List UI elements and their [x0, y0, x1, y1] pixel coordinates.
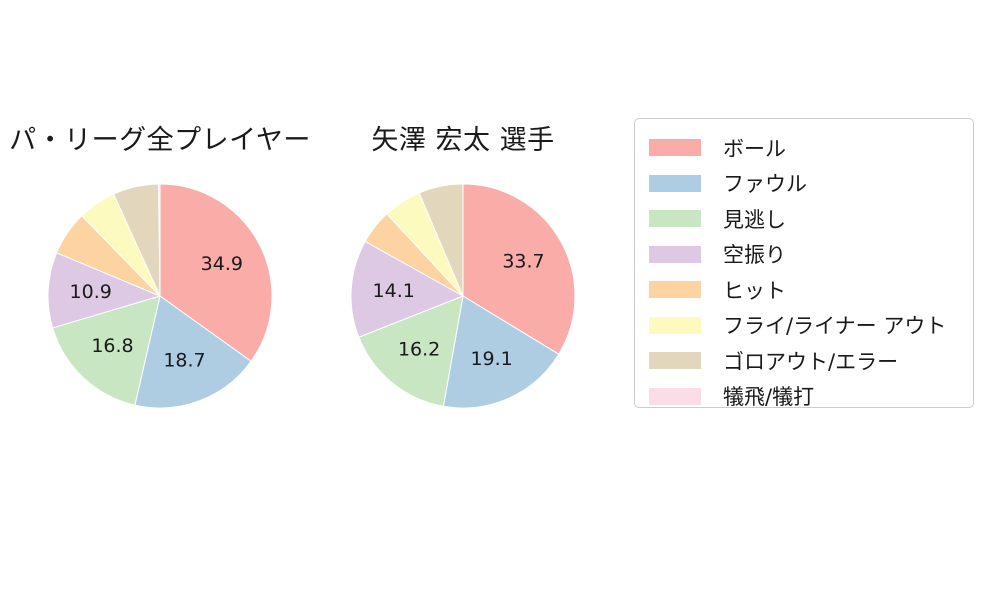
legend-item-label: フライ/ライナー アウト: [723, 310, 946, 340]
legend-item[interactable]: ファウル: [649, 166, 959, 202]
legend-item[interactable]: ゴロアウト/エラー: [649, 343, 959, 379]
legend-color-swatch: [649, 388, 701, 405]
pie-panel-player: 矢澤 宏太 選手 33.719.116.214.1: [303, 108, 623, 408]
legend-color-swatch: [649, 317, 701, 334]
legend: ボールファウル見逃し空振りヒットフライ/ライナー アウトゴロアウト/エラー犠飛/…: [634, 118, 974, 408]
legend-item-label: ヒット: [723, 275, 786, 305]
legend-color-swatch: [649, 175, 701, 192]
legend-color-swatch: [649, 246, 701, 263]
legend-item-label: 空振り: [723, 239, 786, 269]
pie-slice-label: 14.1: [373, 280, 415, 302]
legend-item-label: 見逃し: [723, 204, 786, 234]
pie-slice-label: 33.7: [502, 251, 544, 273]
legend-item[interactable]: 犠飛/犠打: [649, 379, 959, 415]
legend-color-swatch: [649, 139, 701, 156]
pie-chart-figure: パ・リーグ全プレイヤー 34.918.716.810.9 矢澤 宏太 選手 33…: [0, 0, 1000, 600]
legend-item-label: ファウル: [723, 168, 807, 198]
legend-color-swatch: [649, 281, 701, 298]
legend-item-label: 犠飛/犠打: [723, 381, 814, 411]
pie-slice-label: 18.7: [163, 350, 205, 372]
legend-item[interactable]: 見逃し: [649, 201, 959, 237]
legend-item[interactable]: ボール: [649, 130, 959, 166]
pie-slice-label: 34.9: [201, 253, 243, 275]
pie-panel-league: パ・リーグ全プレイヤー 34.918.716.810.9: [0, 108, 320, 408]
legend-item[interactable]: 空振り: [649, 237, 959, 273]
legend-color-swatch: [649, 210, 701, 227]
legend-item[interactable]: ヒット: [649, 272, 959, 308]
legend-item-label: ゴロアウト/エラー: [723, 346, 898, 376]
legend-color-swatch: [649, 352, 701, 369]
legend-item[interactable]: フライ/ライナー アウト: [649, 308, 959, 344]
pie-slice-label: 16.2: [398, 338, 440, 360]
pie-svg-league: 34.918.716.810.9: [0, 108, 320, 408]
pie-slice-label: 16.8: [91, 335, 133, 357]
pie-svg-player: 33.719.116.214.1: [303, 108, 623, 408]
pie-slice-label: 19.1: [470, 348, 512, 370]
pie-slice-label: 10.9: [70, 281, 112, 303]
legend-item-label: ボール: [723, 133, 786, 163]
legend-item-list: ボールファウル見逃し空振りヒットフライ/ライナー アウトゴロアウト/エラー犠飛/…: [649, 130, 959, 414]
